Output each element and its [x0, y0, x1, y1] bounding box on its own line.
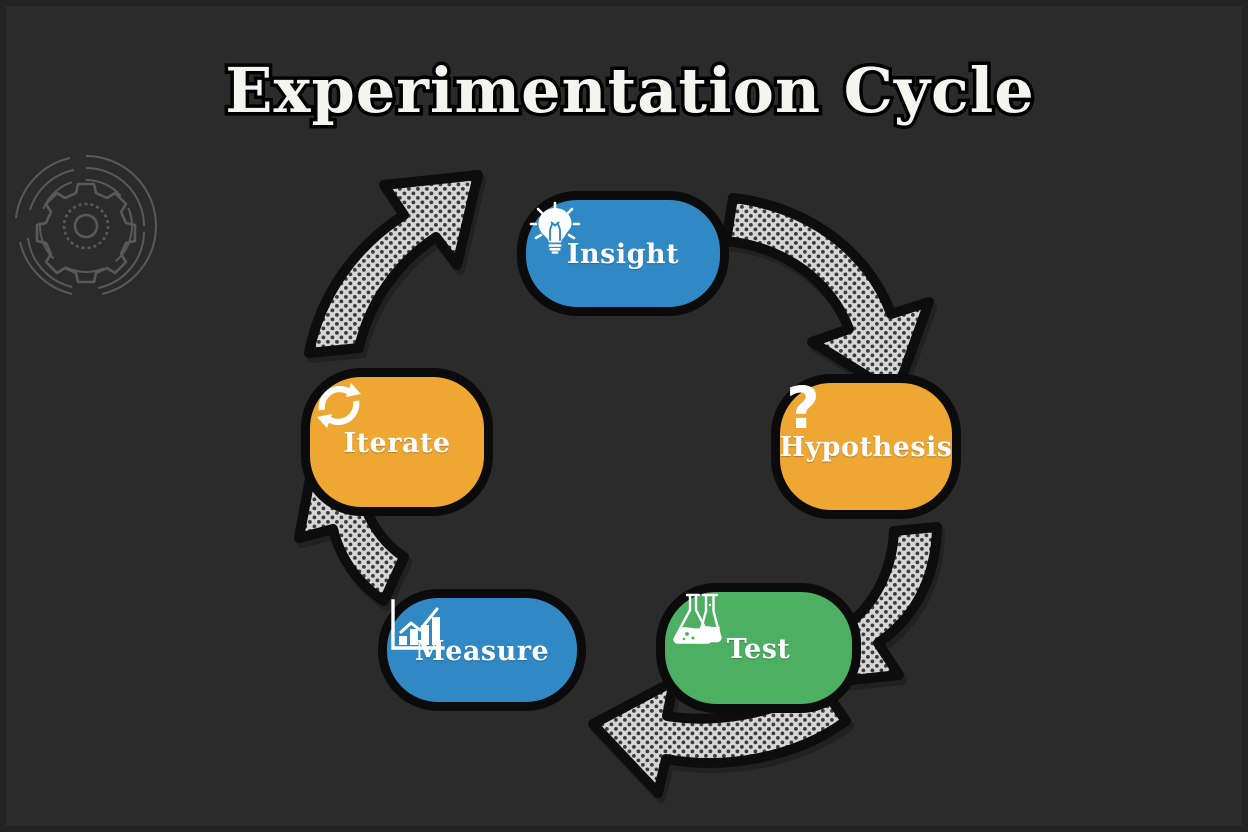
node-measure[interactable]: Measure	[378, 589, 586, 711]
node-insight[interactable]: Insight	[517, 191, 729, 316]
arrow-insight-to-hypothesis	[726, 198, 929, 394]
node-test-label: Test	[727, 634, 791, 665]
node-test[interactable]: Test	[656, 583, 861, 713]
gear-icon	[6, 146, 166, 306]
diagram-canvas: Experimentation Cycle	[0, 0, 1248, 832]
cycle-diagram: Insight ? Hypothesis	[6, 146, 1248, 826]
node-hypothesis[interactable]: ? Hypothesis	[771, 374, 961, 519]
page-title: Experimentation Cycle	[6, 54, 1248, 127]
node-iterate[interactable]: Iterate	[301, 368, 493, 516]
arrow-iterate-to-insight	[309, 175, 478, 353]
svg-text:?: ?	[786, 383, 820, 441]
